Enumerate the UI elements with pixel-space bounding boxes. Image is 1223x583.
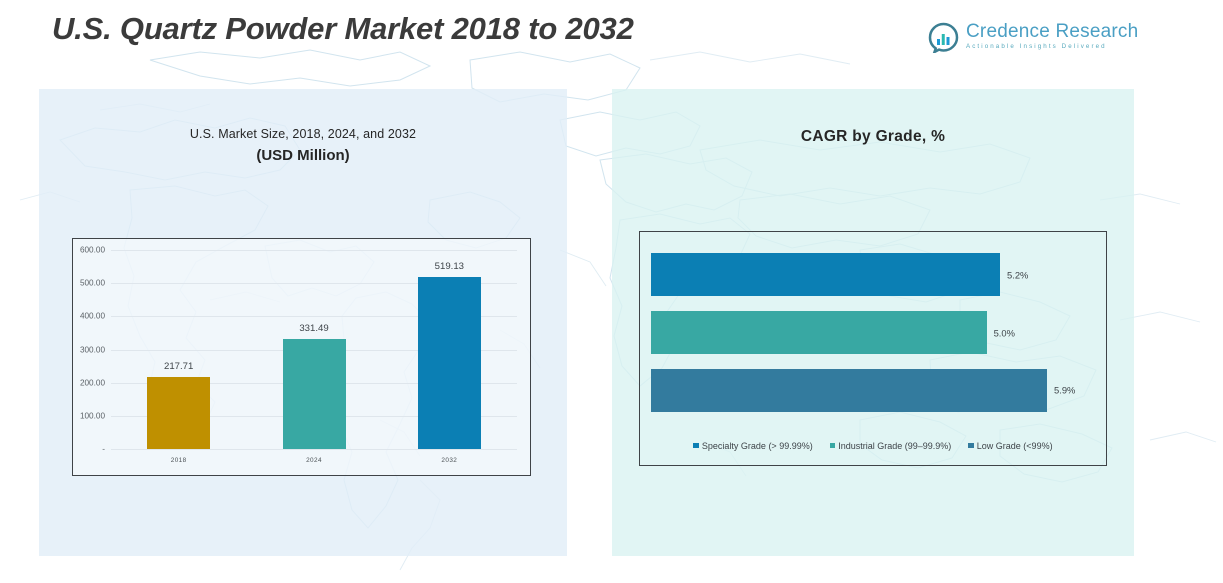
legend-label: Low Grade (<99%): [977, 441, 1053, 451]
page-title: U.S. Quartz Powder Market 2018 to 2032: [52, 11, 634, 47]
y-axis-tick-label: 400.00: [80, 312, 105, 321]
credence-research-logo: Credence Research Actionable Insights De…: [928, 18, 1113, 56]
bar-1[interactable]: [651, 253, 1000, 296]
bar-column[interactable]: 331.492024: [283, 250, 346, 449]
market-size-panel: U.S. Market Size, 2018, 2024, and 2032 (…: [39, 89, 567, 556]
bar-2[interactable]: [651, 311, 987, 354]
bar-chart-circle-icon: [928, 22, 959, 53]
bar-value-label: 5.0%: [994, 327, 1015, 338]
left-chart-title-line1: U.S. Market Size, 2018, 2024, and 2032: [39, 127, 567, 141]
y-axis-tick-label: 100.00: [80, 411, 105, 420]
bar-value-label: 5.2%: [1007, 269, 1028, 280]
bar-2018[interactable]: [147, 377, 210, 449]
header: U.S. Quartz Powder Market 2018 to 2032 C…: [0, 0, 1223, 66]
left-chart-plot-area: 600.00500.00400.00300.00200.00100.00-217…: [111, 250, 517, 449]
bar-value-label: 331.49: [234, 323, 394, 334]
logo-tagline: Actionable Insights Delivered: [966, 43, 1138, 52]
y-axis-tick-label: 200.00: [80, 378, 105, 387]
legend-swatch-icon: [830, 443, 836, 449]
legend-item[interactable]: Low Grade (<99%): [968, 441, 1052, 451]
bar-2032[interactable]: [418, 277, 481, 449]
y-axis-tick-label: 600.00: [80, 246, 105, 255]
legend-item[interactable]: Specialty Grade (> 99.99%): [693, 441, 812, 451]
bar-3[interactable]: [651, 369, 1047, 412]
bar-column[interactable]: 519.132032: [418, 250, 481, 449]
bar-row[interactable]: 5.9%: [651, 369, 1094, 412]
legend-label: Specialty Grade (> 99.99%): [702, 441, 813, 451]
y-axis-tick-label: 300.00: [80, 345, 105, 354]
left-chart-title-line2: (USD Million): [39, 147, 567, 164]
right-chart-plot-area: 5.2%5.0%5.9%: [651, 246, 1094, 419]
bar-value-label: 519.13: [369, 261, 529, 272]
cagr-bar-chart: 5.2%5.0%5.9% Specialty Grade (> 99.99%)I…: [639, 231, 1107, 466]
legend-swatch-icon: [693, 443, 699, 449]
y-axis-tick-label: 500.00: [80, 279, 105, 288]
legend-label: Industrial Grade (99–99.9%): [838, 441, 951, 451]
bar-value-label: 5.9%: [1054, 385, 1075, 396]
cagr-panel: CAGR by Grade, % 5.2%5.0%5.9% Specialty …: [612, 89, 1134, 556]
logo-text: Credence Research Actionable Insights De…: [966, 22, 1138, 52]
bar-2024[interactable]: [283, 339, 346, 449]
cagr-legend: Specialty Grade (> 99.99%)Industrial Gra…: [640, 441, 1106, 451]
market-size-column-chart: 600.00500.00400.00300.00200.00100.00-217…: [72, 238, 531, 476]
gridline: [111, 449, 517, 450]
bar-row[interactable]: 5.2%: [651, 253, 1094, 296]
x-axis-tick-label: 2032: [369, 457, 529, 464]
right-chart-title: CAGR by Grade, %: [612, 128, 1134, 146]
bar-value-label: 217.71: [99, 361, 259, 372]
legend-swatch-icon: [968, 443, 974, 449]
infographic-page: U.S. Quartz Powder Market 2018 to 2032 C…: [0, 0, 1223, 583]
bar-column[interactable]: 217.712018: [147, 250, 210, 449]
logo-company-name: Credence Research: [966, 22, 1138, 42]
y-axis-tick-label: -: [102, 445, 105, 454]
legend-item[interactable]: Industrial Grade (99–99.9%): [830, 441, 952, 451]
bar-row[interactable]: 5.0%: [651, 311, 1094, 354]
